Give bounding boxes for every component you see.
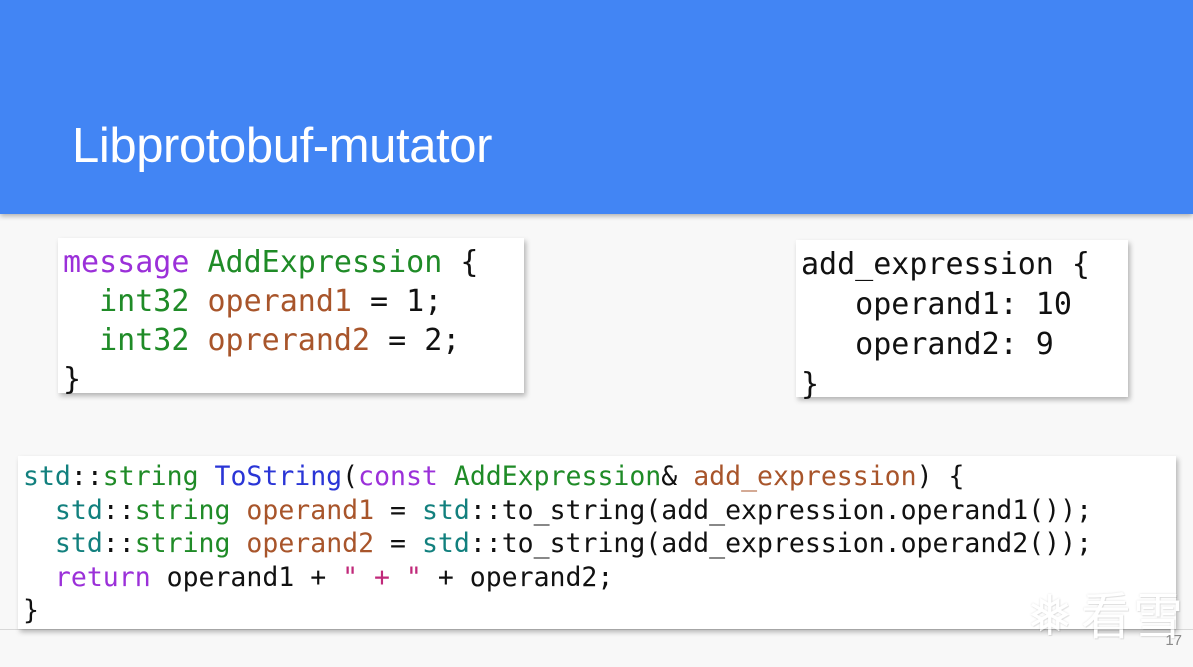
code-token-plain: = xyxy=(374,528,422,559)
code-token-plain: ) { xyxy=(917,461,965,492)
code-token-plain: = 1; xyxy=(352,284,442,319)
code-token-ns: std xyxy=(55,495,103,526)
cpp-tostring-code-block: std::string ToString(const AddExpression… xyxy=(18,456,1176,629)
code-token-plain: operand2: 9 xyxy=(801,327,1054,362)
code-token-keyword: const xyxy=(358,461,438,492)
code-token-ns: std xyxy=(422,495,470,526)
code-line: } xyxy=(20,594,1176,628)
code-line: } xyxy=(798,365,1128,405)
code-token-type: string xyxy=(103,461,199,492)
code-token-type: AddExpression xyxy=(208,245,443,280)
code-token-ns: std xyxy=(55,528,103,559)
code-line: operand1: 10 xyxy=(798,285,1128,325)
code-line: } xyxy=(60,360,524,399)
code-token-plain: add_expression { xyxy=(801,247,1090,282)
code-token-plain xyxy=(23,562,55,593)
page-title: Libprotobuf-mutator xyxy=(72,118,492,174)
code-token-plain: + operand2; xyxy=(422,562,613,593)
code-line: operand2: 9 xyxy=(798,325,1128,365)
code-token-plain xyxy=(189,245,207,280)
code-token-plain: ::to_string(add_expression.operand1()); xyxy=(470,495,1092,526)
proto-definition-code-block: message AddExpression { int32 operand1 =… xyxy=(58,238,524,393)
code-token-plain: ( xyxy=(342,461,358,492)
code-token-type: string xyxy=(135,495,231,526)
code-token-plain xyxy=(189,323,207,358)
code-token-plain xyxy=(189,284,207,319)
code-token-type: AddExpression xyxy=(454,461,661,492)
code-token-keyword: return xyxy=(55,562,151,593)
code-line: std::string ToString(const AddExpression… xyxy=(20,460,1176,494)
code-token-plain: } xyxy=(63,362,81,397)
code-token-plain xyxy=(63,323,99,358)
code-token-ident: operand2 xyxy=(246,528,374,559)
code-token-ident: operand1 xyxy=(246,495,374,526)
code-token-plain: & xyxy=(661,461,693,492)
footer-divider xyxy=(0,629,1193,630)
code-token-plain xyxy=(63,284,99,319)
code-token-plain xyxy=(438,461,454,492)
code-token-keyword: message xyxy=(63,245,189,280)
code-token-plain xyxy=(230,495,246,526)
code-token-ns: std xyxy=(422,528,470,559)
slide-header-band: Libprotobuf-mutator xyxy=(0,0,1193,214)
code-token-ident: operand1 xyxy=(208,284,353,319)
code-token-plain xyxy=(23,495,55,526)
code-token-plain: } xyxy=(801,367,819,402)
code-token-plain xyxy=(199,461,215,492)
code-token-ident: oprerand2 xyxy=(208,323,371,358)
code-token-fn: ToString xyxy=(215,461,343,492)
code-token-plain: ::to_string(add_expression.operand2()); xyxy=(470,528,1092,559)
code-token-plain: operand1: 10 xyxy=(801,287,1072,322)
code-line: std::string operand1 = std::to_string(ad… xyxy=(20,494,1176,528)
code-line: std::string operand2 = std::to_string(ad… xyxy=(20,527,1176,561)
code-token-type: string xyxy=(135,528,231,559)
code-token-type: int32 xyxy=(99,284,189,319)
code-token-string: " + " xyxy=(342,562,422,593)
protobuf-text-format-block: add_expression { operand1: 10 operand2: … xyxy=(796,240,1128,397)
code-token-plain: operand1 + xyxy=(151,562,342,593)
code-line: message AddExpression { xyxy=(60,243,524,282)
code-line: add_expression { xyxy=(798,245,1128,285)
code-line: int32 oprerand2 = 2; xyxy=(60,321,524,360)
slide-canvas: Libprotobuf-mutator message AddExpressio… xyxy=(0,0,1193,667)
code-line: int32 operand1 = 1; xyxy=(60,282,524,321)
code-token-plain: :: xyxy=(71,461,103,492)
code-token-plain: :: xyxy=(103,495,135,526)
code-token-ident: add_expression xyxy=(693,461,916,492)
code-token-ns: std xyxy=(23,461,71,492)
code-token-plain: { xyxy=(442,245,478,280)
page-number: 17 xyxy=(1165,632,1182,649)
code-line: return operand1 + " + " + operand2; xyxy=(20,561,1176,595)
code-token-plain: = xyxy=(374,495,422,526)
code-token-type: int32 xyxy=(99,323,189,358)
code-token-plain: :: xyxy=(103,528,135,559)
code-token-plain: } xyxy=(23,595,39,626)
code-token-plain: = 2; xyxy=(370,323,460,358)
code-token-plain xyxy=(230,528,246,559)
code-token-plain xyxy=(23,528,55,559)
